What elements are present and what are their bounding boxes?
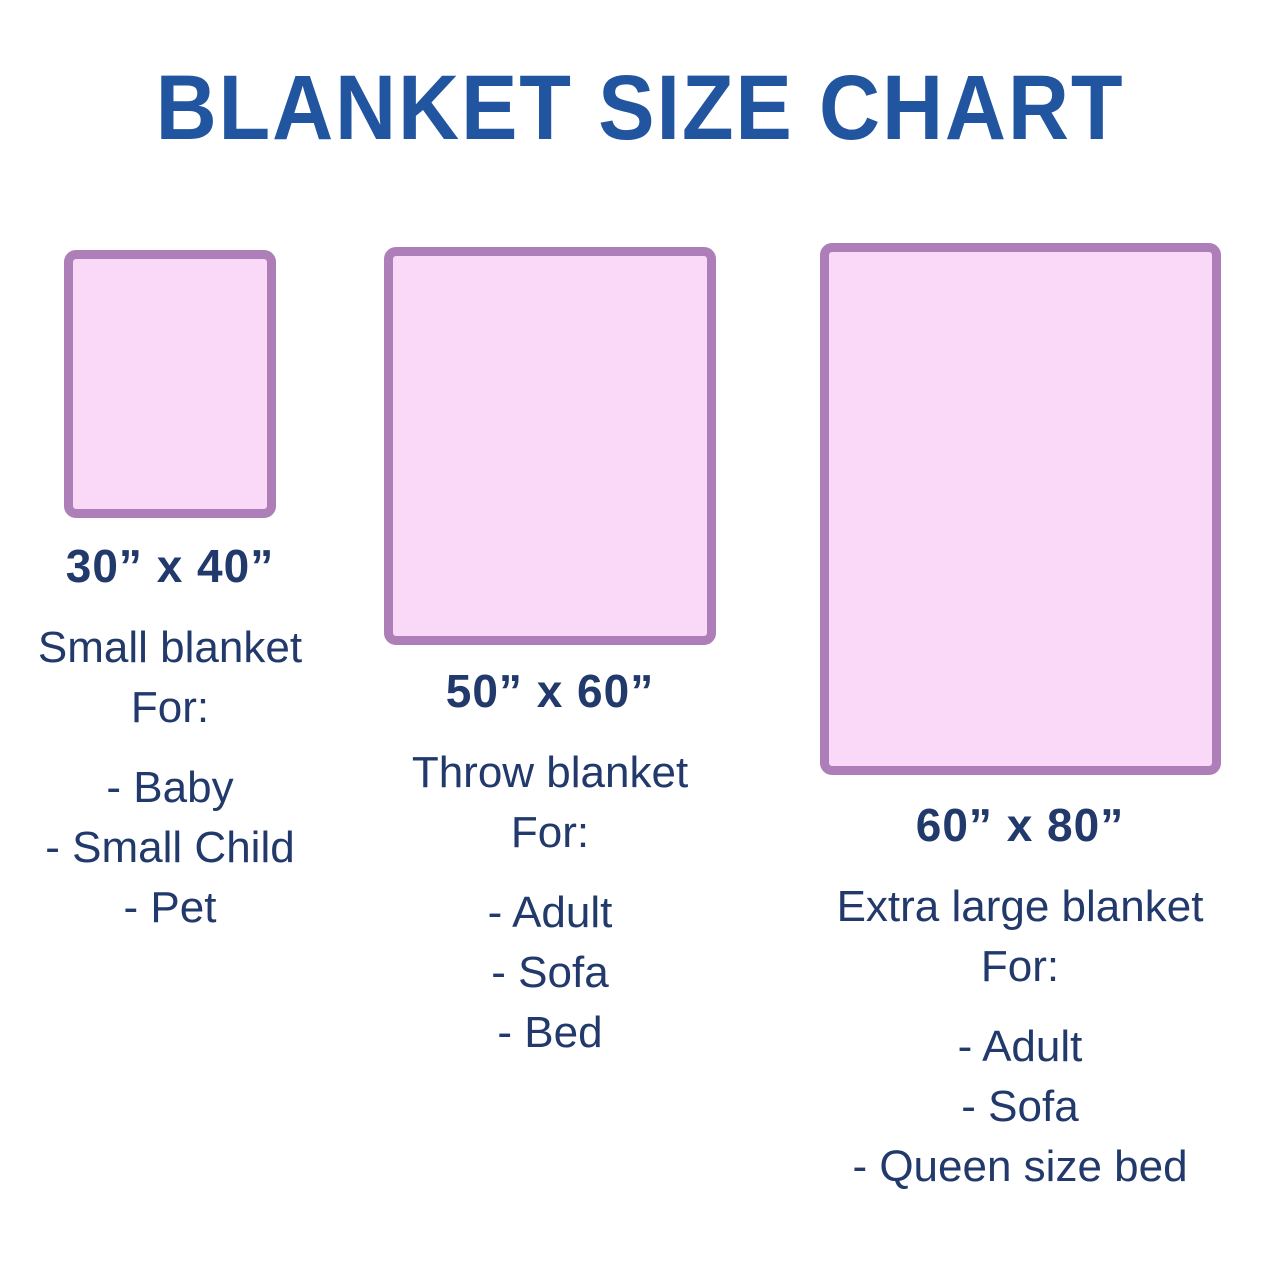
for-label: For: xyxy=(770,937,1270,997)
swatch-wrapper-extra-large xyxy=(770,243,1270,775)
blanket-kind-label: Throw blanket xyxy=(350,743,750,803)
size-dimensions-label: 60” x 80” xyxy=(770,795,1270,855)
blanket-kind-label: Small blanket xyxy=(0,618,340,678)
size-columns: 30” x 40” Small blanket For: - Baby - Sm… xyxy=(0,0,1280,1280)
use-case-list: - Adult - Sofa - Bed xyxy=(350,883,750,1063)
blanket-swatch-throw xyxy=(384,247,716,645)
list-item: - Bed xyxy=(350,1003,750,1063)
swatch-wrapper-small xyxy=(0,250,340,518)
list-item: - Small Child xyxy=(0,818,340,878)
list-item: - Sofa xyxy=(770,1077,1270,1137)
blanket-swatch-small xyxy=(64,250,276,518)
list-item: - Baby xyxy=(0,758,340,818)
list-item: - Pet xyxy=(0,878,340,938)
swatch-wrapper-throw xyxy=(350,247,750,645)
for-label: For: xyxy=(0,678,340,738)
list-item: - Queen size bed xyxy=(770,1137,1270,1197)
use-case-list: - Baby - Small Child - Pet xyxy=(0,758,340,938)
blanket-swatch-extra-large xyxy=(820,243,1221,775)
list-item: - Adult xyxy=(770,1017,1270,1077)
size-info-small: 30” x 40” Small blanket For: - Baby - Sm… xyxy=(0,536,340,938)
for-label: For: xyxy=(350,803,750,863)
size-info-throw: 50” x 60” Throw blanket For: - Adult - S… xyxy=(350,661,750,1063)
list-item: - Adult xyxy=(350,883,750,943)
list-item: - Sofa xyxy=(350,943,750,1003)
size-info-extra-large: 60” x 80” Extra large blanket For: - Adu… xyxy=(770,795,1270,1197)
blanket-kind-label: Extra large blanket xyxy=(770,877,1270,937)
use-case-list: - Adult - Sofa - Queen size bed xyxy=(770,1017,1270,1197)
size-dimensions-label: 50” x 60” xyxy=(350,661,750,721)
size-dimensions-label: 30” x 40” xyxy=(0,536,340,596)
